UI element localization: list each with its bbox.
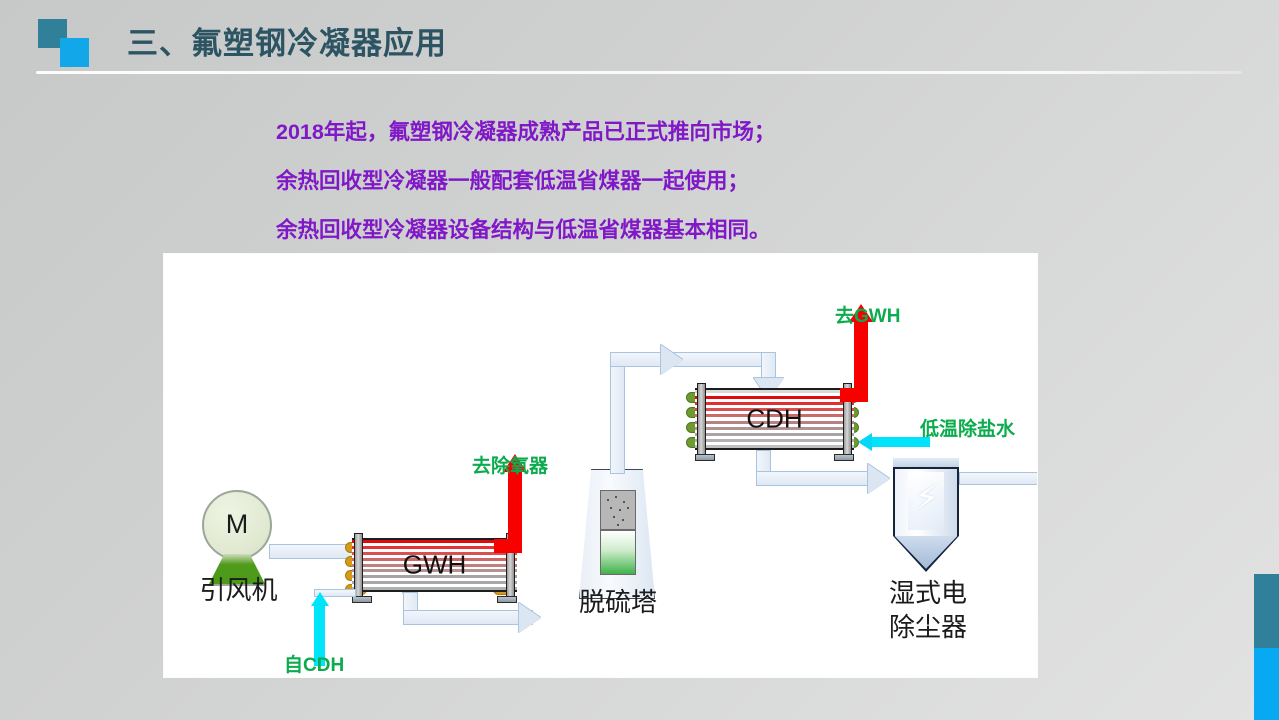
gwh-tube	[352, 587, 517, 590]
cdh-right-foot	[834, 454, 854, 461]
label-to-deaerator: 去除氧器	[472, 451, 548, 478]
cdh-left-foot	[695, 454, 715, 461]
tower-caption: 脱硫塔	[560, 582, 676, 619]
wet-esp-hopper	[893, 536, 959, 572]
decor-square-bright	[60, 38, 89, 67]
gwh-tube	[352, 540, 517, 543]
wet-esp-caption-line2: 除尘器	[858, 610, 998, 644]
cdh-hot-outlet-shaft-v	[854, 322, 868, 394]
duct-gwh-to-tower-horizontal	[403, 610, 533, 625]
gwh-tube	[352, 546, 517, 549]
body-line-2: 余热回收型冷凝器一般配套低温省煤器一起使用；	[276, 157, 1076, 206]
page-title: 三、氟塑钢冷凝器应用	[127, 18, 447, 63]
duct-tower-riser	[610, 352, 625, 474]
wet-esp-top-cap	[893, 458, 959, 469]
gwh-heat-exchanger: GWH	[352, 538, 517, 592]
duct-arrowhead-into-esp	[868, 464, 890, 494]
cdh-heat-exchanger: CDH	[695, 388, 854, 450]
fan-caption: 引风机	[176, 570, 301, 607]
wet-esp-caption: 湿式电 除尘器	[858, 576, 998, 644]
gwh-hot-outlet-shaft-v	[508, 472, 522, 544]
cdh-tube	[695, 439, 854, 442]
cdh-tube	[695, 390, 854, 393]
duct-esp-outlet	[959, 472, 1037, 485]
demin-water-arrowhead	[858, 433, 872, 451]
bolt-icon: ⚡	[914, 480, 939, 516]
body-text-block: 2018年起，氟塑钢冷凝器成熟产品已正式推向市场； 余热回收型冷凝器一般配套低温…	[276, 108, 1076, 255]
cdh-tube	[695, 396, 854, 399]
gwh-right-foot	[497, 596, 517, 603]
from-cdh-arrowhead	[311, 592, 329, 606]
duct-arrowhead-to-tower	[519, 603, 541, 633]
wet-esp-caption-line1: 湿式电	[858, 576, 998, 610]
duct-tower-to-cdh-horizontal	[610, 352, 776, 367]
edge-accent-teal	[1254, 574, 1279, 648]
gwh-label: GWH	[352, 550, 517, 581]
label-demineralized-water: 低温除盐水	[920, 414, 1015, 441]
body-line-1: 2018年起，氟塑钢冷凝器成熟产品已正式推向市场；	[276, 108, 1076, 157]
fan-motor-label: M	[202, 509, 272, 540]
tower-spray-zone	[600, 490, 636, 530]
label-from-cdh: 自CDH	[284, 650, 344, 677]
label-to-gwh: 去GWH	[835, 301, 900, 328]
gwh-tube	[352, 581, 517, 584]
gwh-left-foot	[352, 596, 372, 603]
cdh-label: CDH	[695, 404, 854, 435]
duct-cdh-to-esp-horizontal	[756, 471, 878, 486]
title-divider	[36, 71, 1242, 74]
cdh-tube	[695, 445, 854, 448]
tower-liquid-pool	[600, 530, 636, 575]
process-flow-diagram: M 引风机 GWH 去除氧器	[164, 254, 1037, 677]
duct-arrowhead-tower-riser	[661, 345, 683, 375]
body-line-3: 余热回收型冷凝器设备结构与低温省煤器基本相同。	[276, 206, 1076, 255]
edge-accent-blue	[1254, 648, 1279, 720]
